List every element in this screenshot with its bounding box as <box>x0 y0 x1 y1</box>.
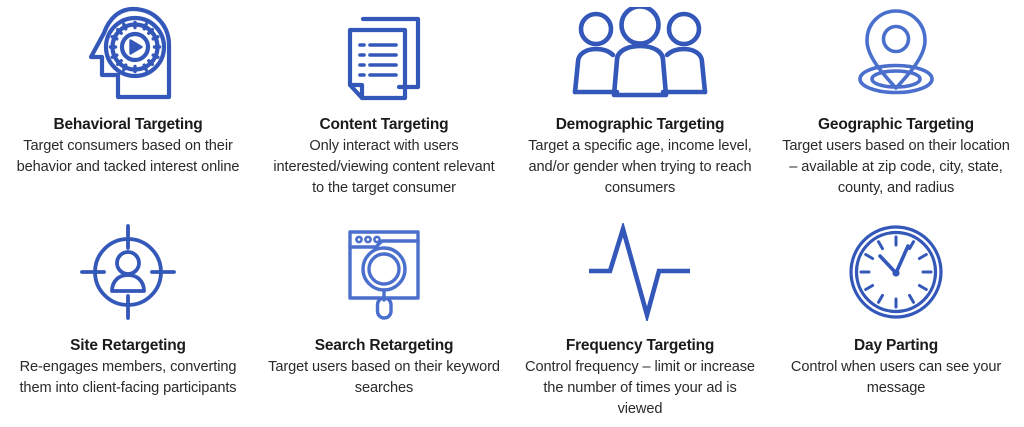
card-search-retargeting: Search Retargeting Target users based on… <box>256 220 512 427</box>
card-title: Demographic Targeting <box>556 115 725 135</box>
card-title: Content Targeting <box>320 115 449 135</box>
people-group-icon <box>520 0 760 106</box>
card-day-parting: Day Parting Control when users can see y… <box>768 220 1024 427</box>
card-site-retargeting: Site Retargeting Re-engages members, con… <box>0 220 256 427</box>
card-title: Day Parting <box>854 336 938 356</box>
card-title: Behavioral Targeting <box>53 115 202 135</box>
pulse-wave-icon <box>520 220 760 324</box>
card-geographic-targeting: Geographic Targeting Target users based … <box>768 0 1024 220</box>
card-behavioral-targeting: Behavioral Targeting Target consumers ba… <box>0 0 256 220</box>
card-title: Frequency Targeting <box>566 336 714 356</box>
crosshair-person-icon <box>8 220 248 324</box>
card-title: Search Retargeting <box>315 336 454 356</box>
card-description: Target a specific age, income level, and… <box>524 136 756 199</box>
browser-search-icon <box>264 220 504 324</box>
card-description: Target users based on their location – a… <box>780 136 1012 199</box>
documents-icon <box>264 0 504 106</box>
card-title: Site Retargeting <box>70 336 186 356</box>
head-gear-play-icon <box>8 0 248 106</box>
card-title: Geographic Targeting <box>818 115 974 135</box>
card-demographic-targeting: Demographic Targeting Target a specific … <box>512 0 768 220</box>
card-description: Control when users can see your message <box>780 357 1012 399</box>
clock-icon <box>776 220 1016 324</box>
card-description: Target consumers based on their behavior… <box>12 136 244 178</box>
card-frequency-targeting: Frequency Targeting Control frequency – … <box>512 220 768 427</box>
card-description: Control frequency – limit or increase th… <box>524 357 756 420</box>
card-description: Re-engages members, converting them into… <box>12 357 244 399</box>
card-content-targeting: Content Targeting Only interact with use… <box>256 0 512 220</box>
map-pin-icon <box>776 0 1016 106</box>
targeting-types-grid: Behavioral Targeting Target consumers ba… <box>0 0 1024 427</box>
card-description: Target users based on their keyword sear… <box>268 357 500 399</box>
card-description: Only interact with users interested/view… <box>268 136 500 199</box>
